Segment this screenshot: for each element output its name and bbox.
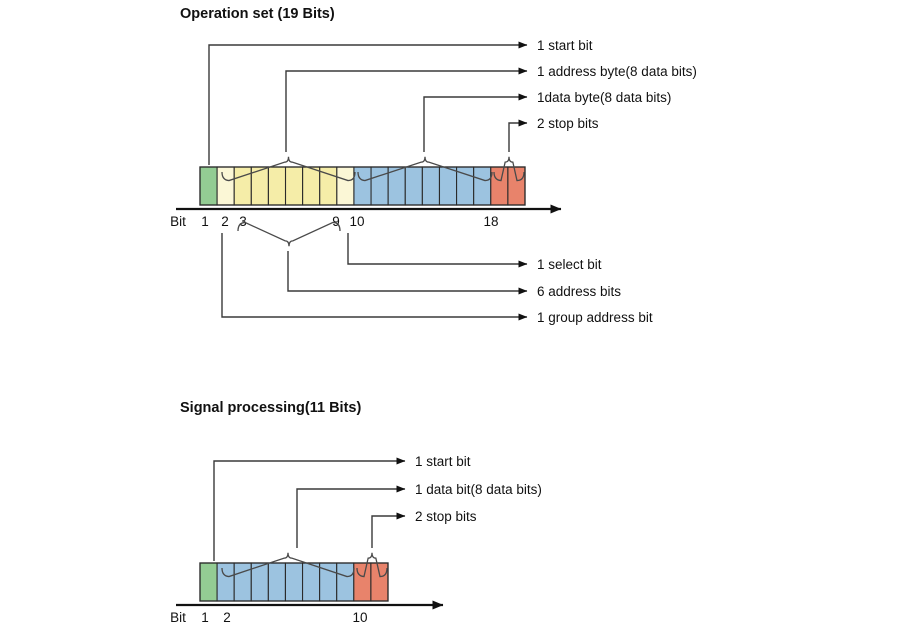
bit-cell-data-byte — [285, 563, 302, 601]
callout-address-byte-label: 1 address byte(8 data bits) — [537, 64, 697, 79]
bit-cell-data-byte — [217, 563, 234, 601]
callout-data-bit-label: 1 data bit(8 data bits) — [415, 482, 542, 497]
brace-address-bits — [238, 222, 340, 246]
callout-data-bit-leader — [297, 489, 405, 548]
diagram-canvas: Operation set (19 Bits) Signal processin… — [0, 0, 900, 632]
callout-stop-bits-label: 2 stop bits — [415, 509, 477, 524]
callout-data-byte-label: 1data byte(8 data bits) — [537, 90, 671, 105]
callout-group-address-bit-leader — [222, 233, 527, 317]
protocol-frame-diagram: Operation set (19 Bits) Signal processin… — [0, 0, 900, 632]
bit-cell-stop-bits — [371, 563, 388, 601]
callout-stop-bits-leader — [509, 123, 527, 152]
bit-cell-data-byte — [439, 167, 456, 205]
bit-cell-start-bit — [200, 167, 217, 205]
callout-address-byte-leader — [286, 71, 527, 152]
page-title-operation-set: Operation set (19 Bits) — [180, 6, 335, 22]
bit-tick-label: 2 — [221, 214, 229, 229]
bit-tick-label: 9 — [332, 214, 340, 229]
bit-cell-address-byte — [303, 167, 320, 205]
bit-tick-label: Bit — [170, 610, 186, 625]
bit-tick-label: 2 — [223, 610, 231, 625]
diagram-signal-processing: Bit12101 start bit1 data bit(8 data bits… — [170, 454, 542, 625]
bit-cell-address-byte — [337, 167, 354, 205]
bit-cell-stop-bits — [491, 167, 508, 205]
bit-tick-label: 18 — [483, 214, 498, 229]
bit-cell-address-byte — [286, 167, 303, 205]
bit-cell-data-byte — [371, 167, 388, 205]
bit-cell-address-byte — [268, 167, 285, 205]
callout-start-bit-label: 1 start bit — [537, 38, 593, 53]
callout-start-bit-leader — [214, 461, 405, 561]
bit-cell-data-byte — [268, 563, 285, 601]
bit-cell-data-byte — [422, 167, 439, 205]
callout-select-bit-label: 1 select bit — [537, 257, 602, 272]
bit-cell-data-byte — [474, 167, 491, 205]
bit-cell-address-byte — [217, 167, 234, 205]
callout-start-bit-leader — [209, 45, 527, 165]
callout-address-bits-label: 6 address bits — [537, 284, 621, 299]
bit-tick-label: 1 — [201, 214, 209, 229]
callout-stop-bits-label: 2 stop bits — [537, 116, 599, 131]
bit-tick-label: Bit — [170, 214, 186, 229]
callout-select-bit-leader — [348, 233, 527, 264]
bit-cell-address-byte — [234, 167, 251, 205]
page-title-signal-processing: Signal processing(11 Bits) — [180, 400, 361, 416]
callout-address-bits-leader — [288, 251, 527, 291]
bit-tick-label: 10 — [352, 610, 367, 625]
callout-start-bit-label: 1 start bit — [415, 454, 471, 469]
bit-cell-data-byte — [303, 563, 320, 601]
bit-tick-label: 10 — [349, 214, 364, 229]
diagram-operation-set: Bit123910181 start bit1 address byte(8 d… — [170, 38, 697, 325]
callout-stop-bits-leader — [372, 516, 405, 548]
callout-data-byte-leader — [424, 97, 527, 152]
bit-tick-label: 3 — [239, 214, 247, 229]
bit-cell-data-byte — [405, 167, 422, 205]
bit-cell-data-byte — [354, 167, 371, 205]
callout-group-address-bit-label: 1 group address bit — [537, 310, 653, 325]
bit-cell-stop-bits — [508, 167, 525, 205]
bit-cell-start-bit — [200, 563, 217, 601]
bit-cell-data-byte — [234, 563, 251, 601]
bit-cell-data-byte — [337, 563, 354, 601]
bit-tick-label: 1 — [201, 610, 209, 625]
